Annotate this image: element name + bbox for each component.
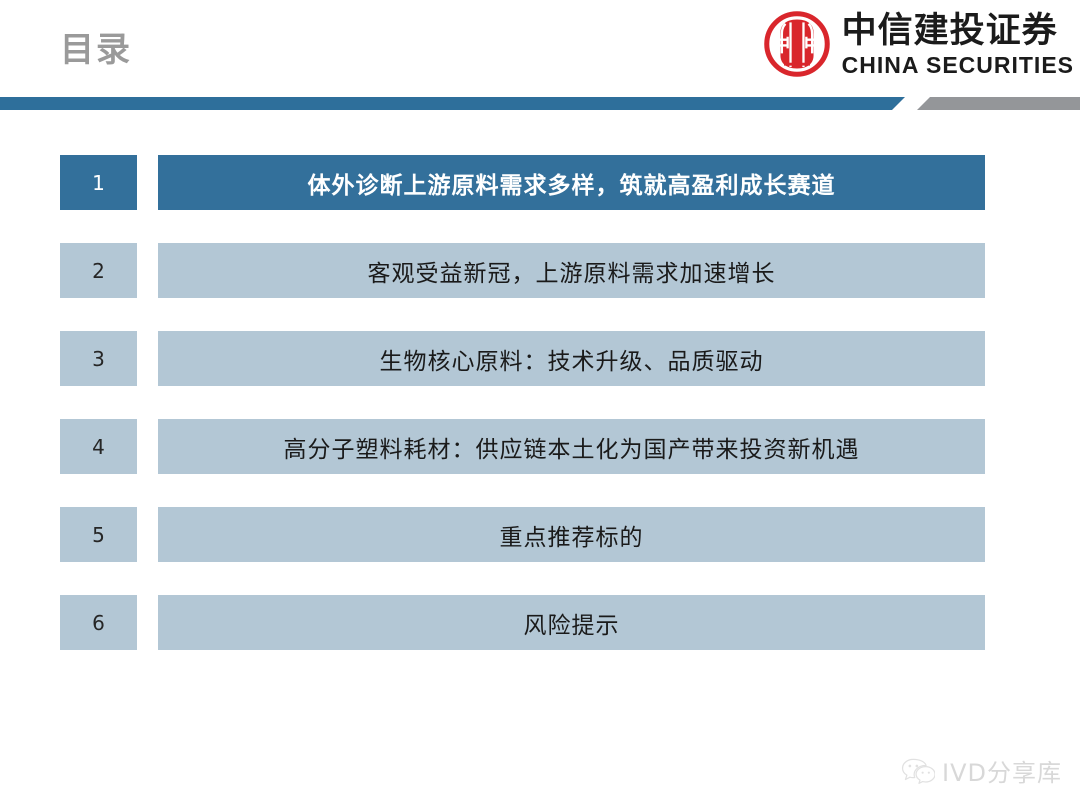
divider-bar-blue xyxy=(0,97,905,110)
toc-item-number: 2 xyxy=(60,243,137,298)
logo-name-cn: 中信建投证券 xyxy=(842,11,1074,51)
logo-wordmark: 中信建投证券 CHINA SECURITIES xyxy=(842,11,1074,78)
divider-bar-gray xyxy=(917,97,1080,110)
toc-item-label[interactable]: 客观受益新冠，上游原料需求加速增长 xyxy=(158,243,985,298)
toc-item[interactable]: 3 生物核心原料：技术升级、品质驱动 xyxy=(0,331,1080,386)
watermark: IVD分享库 xyxy=(901,753,1062,788)
citic-circle-logo-icon xyxy=(761,8,833,80)
toc-item-label[interactable]: 重点推荐标的 xyxy=(158,507,985,562)
company-logo: 中信建投证券 CHINA SECURITIES xyxy=(761,8,1074,80)
table-of-contents: 1 体外诊断上游原料需求多样，筑就高盈利成长赛道 2 客观受益新冠，上游原料需求… xyxy=(0,155,1080,683)
toc-item-number: 5 xyxy=(60,507,137,562)
toc-item[interactable]: 6 风险提示 xyxy=(0,595,1080,650)
toc-item-number: 4 xyxy=(60,419,137,474)
logo-name-en: CHINA SECURITIES xyxy=(842,52,1074,78)
toc-item-label[interactable]: 风险提示 xyxy=(158,595,985,650)
toc-item-label[interactable]: 生物核心原料：技术升级、品质驱动 xyxy=(158,331,985,386)
toc-item[interactable]: 1 体外诊断上游原料需求多样，筑就高盈利成长赛道 xyxy=(0,155,1080,210)
toc-item-label[interactable]: 高分子塑料耗材：供应链本土化为国产带来投资新机遇 xyxy=(158,419,985,474)
slide-canvas: 目录 中信建投证券 CHINA SECURITIES xyxy=(0,0,1080,810)
toc-item-number: 3 xyxy=(60,331,137,386)
page-title: 目录 xyxy=(60,28,132,72)
toc-item[interactable]: 5 重点推荐标的 xyxy=(0,507,1080,562)
toc-item-number: 6 xyxy=(60,595,137,650)
toc-item[interactable]: 4 高分子塑料耗材：供应链本土化为国产带来投资新机遇 xyxy=(0,419,1080,474)
wechat-icon xyxy=(901,756,935,786)
watermark-text: IVD分享库 xyxy=(942,753,1062,788)
slide-header: 目录 中信建投证券 CHINA SECURITIES xyxy=(0,0,1080,95)
toc-item-number: 1 xyxy=(60,155,137,210)
header-divider xyxy=(0,97,1080,112)
toc-item-label[interactable]: 体外诊断上游原料需求多样，筑就高盈利成长赛道 xyxy=(158,155,985,210)
toc-item[interactable]: 2 客观受益新冠，上游原料需求加速增长 xyxy=(0,243,1080,298)
